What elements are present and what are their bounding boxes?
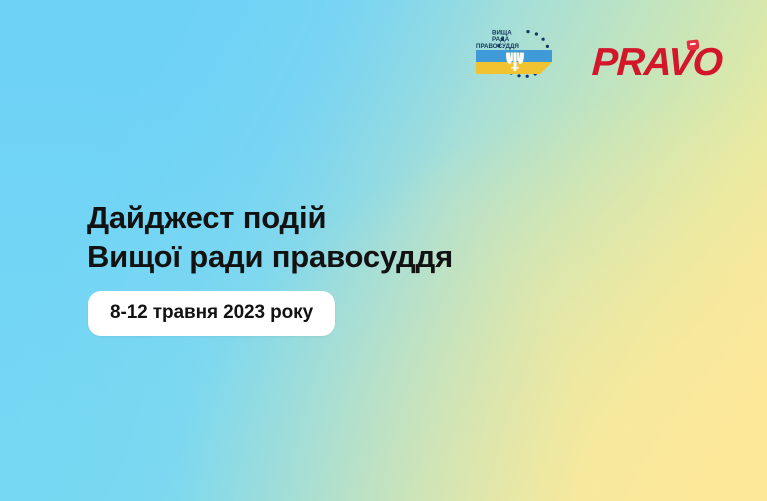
council-logo-line3: ПРАВОСУДДЯ <box>476 43 519 50</box>
pravo-accent-icon <box>687 39 700 50</box>
poster-canvas: ВИЩА РАДА ПРАВОСУДДЯ PRAVO Дайджест поді… <box>0 0 767 501</box>
pravo-wordmark: PRAVO <box>591 43 723 82</box>
page-title: Дайджест подій Вищої ради правосуддя <box>87 198 453 277</box>
date-badge: 8-12 травня 2023 року <box>88 291 335 336</box>
pravo-logo: PRAVO <box>592 43 722 82</box>
logo-row: ВИЩА РАДА ПРАВОСУДДЯ PRAVO <box>470 26 722 98</box>
council-logo: ВИЩА РАДА ПРАВОСУДДЯ <box>470 26 566 98</box>
council-emblem-icon: ВИЩА РАДА ПРАВОСУДДЯ <box>470 26 566 98</box>
